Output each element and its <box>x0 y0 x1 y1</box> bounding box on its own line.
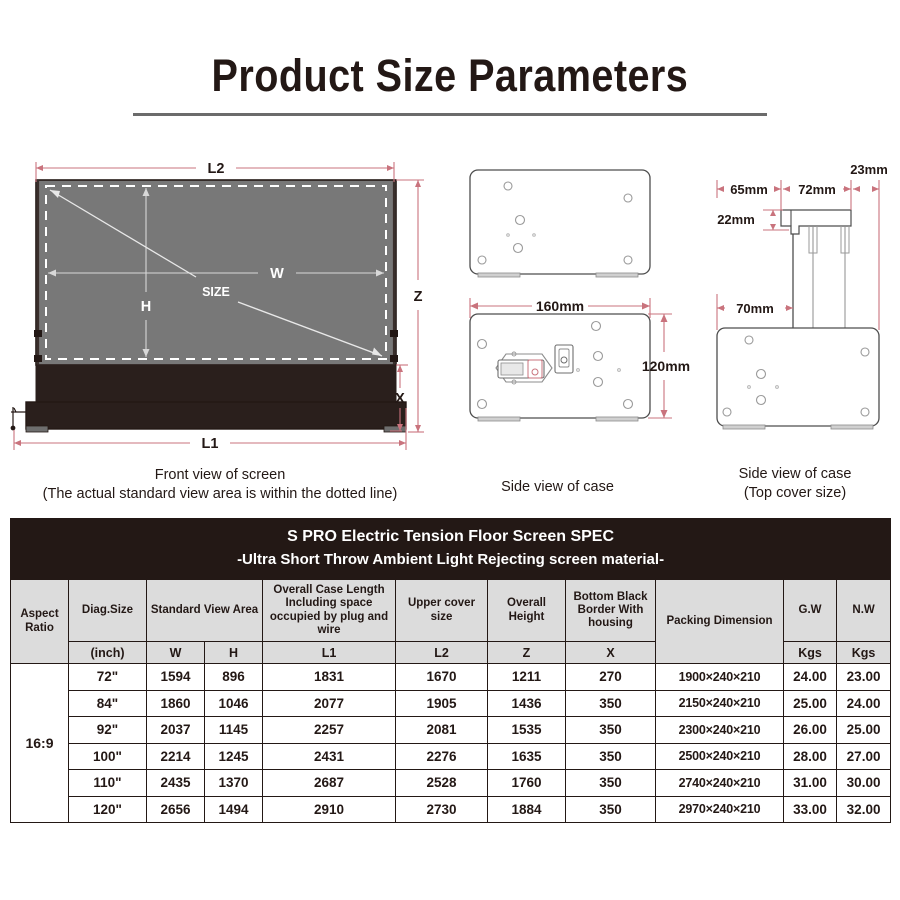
cell-l1: 2687 <box>263 770 396 797</box>
spec-table: S PRO Electric Tension Floor Screen SPEC… <box>10 518 891 823</box>
header-overall-height: Overall Height <box>488 580 566 642</box>
cell-l2: 2081 <box>396 717 488 744</box>
left-rail-clip-top <box>34 330 42 337</box>
cell-l2: 2528 <box>396 770 488 797</box>
cell-x: 350 <box>566 770 656 797</box>
label-160mm: 160mm <box>536 298 584 314</box>
right-rail-clip-top <box>390 330 398 337</box>
right-rail-clip-bottom <box>390 355 398 362</box>
label-l1: L1 <box>202 436 219 452</box>
cell-diag: 72" <box>69 664 147 691</box>
housing-foot-left <box>26 426 48 432</box>
cell-l1: 2910 <box>263 796 396 823</box>
side-view-case-diagram: 160mm 120mm <box>450 158 690 458</box>
table-row: 16:9 72" 1594 896 1831 1670 1211 270 190… <box>11 664 891 691</box>
cell-h: 1046 <box>205 690 263 717</box>
label-65mm: 65mm <box>730 182 768 197</box>
title-underline-rule <box>133 113 767 116</box>
table-title-cell: S PRO Electric Tension Floor Screen SPEC… <box>11 519 891 580</box>
page-title-block: Product Size Parameters <box>0 52 900 99</box>
front-view-caption: Front view of screen (The actual standar… <box>0 466 440 504</box>
cell-gw: 26.00 <box>784 717 837 744</box>
cell-diag: 92" <box>69 717 147 744</box>
label-22mm: 22mm <box>717 212 755 227</box>
subheader-nw-unit: Kgs <box>837 642 891 664</box>
cell-packing: 2740×240×210 <box>656 770 784 797</box>
dimension-23mm <box>853 180 879 330</box>
cell-z: 1635 <box>488 743 566 770</box>
cell-l2: 1670 <box>396 664 488 691</box>
cell-diag: 84" <box>69 690 147 717</box>
front-view-diagram: L2 L1 Z <box>0 150 440 480</box>
cell-diag: 110" <box>69 770 147 797</box>
label-z: Z <box>414 289 423 305</box>
cell-h: 1145 <box>205 717 263 744</box>
cell-aspect-ratio: 16:9 <box>11 664 69 823</box>
power-plug-wire-icon <box>11 407 26 430</box>
cell-packing: 2500×240×210 <box>656 743 784 770</box>
cell-w: 2214 <box>147 743 205 770</box>
header-packing-dimension: Packing Dimension <box>656 580 784 664</box>
cell-h: 896 <box>205 664 263 691</box>
cell-z: 1884 <box>488 796 566 823</box>
subheader-gw-unit: Kgs <box>784 642 837 664</box>
table-row: 84" 1860 1046 2077 1905 1436 350 2150×24… <box>11 690 891 717</box>
table-row: 120" 2656 1494 2910 2730 1884 350 2970×2… <box>11 796 891 823</box>
cell-packing: 2150×240×210 <box>656 690 784 717</box>
cell-gw: 25.00 <box>784 690 837 717</box>
subheader-l2: L2 <box>396 642 488 664</box>
cell-diag: 120" <box>69 796 147 823</box>
cell-x: 350 <box>566 717 656 744</box>
subheader-w: W <box>147 642 205 664</box>
cell-x: 270 <box>566 664 656 691</box>
table-header-row: Aspect Ratio Diag.Size Standard View Are… <box>11 580 891 642</box>
header-bottom-black-border: Bottom Black Border With housing <box>566 580 656 642</box>
cell-h: 1494 <box>205 796 263 823</box>
header-aspect-ratio: Aspect Ratio <box>11 580 69 664</box>
label-70mm: 70mm <box>736 301 774 316</box>
header-upper-cover-size: Upper cover size <box>396 580 488 642</box>
side-view-top-cover-caption-line1: Side view of case <box>690 465 900 484</box>
label-l2: L2 <box>208 161 225 177</box>
cell-w: 2435 <box>147 770 205 797</box>
cell-packing: 2300×240×210 <box>656 717 784 744</box>
label-72mm: 72mm <box>798 182 836 197</box>
cell-packing: 1900×240×210 <box>656 664 784 691</box>
front-view-caption-line2: (The actual standard view area is within… <box>0 485 440 504</box>
side-view-top-cover-caption-line2: (Top cover size) <box>690 484 900 503</box>
subheader-x: X <box>566 642 656 664</box>
cell-x: 350 <box>566 690 656 717</box>
cell-x: 350 <box>566 743 656 770</box>
header-standard-view-area: Standard View Area <box>147 580 263 642</box>
cell-z: 1436 <box>488 690 566 717</box>
cell-nw: 23.00 <box>837 664 891 691</box>
subheader-l1: L1 <box>263 642 396 664</box>
cell-nw: 32.00 <box>837 796 891 823</box>
cell-l1: 2257 <box>263 717 396 744</box>
cell-z: 1211 <box>488 664 566 691</box>
cell-gw: 24.00 <box>784 664 837 691</box>
case-body <box>717 328 879 429</box>
cell-gw: 31.00 <box>784 770 837 797</box>
label-x: X <box>395 391 405 407</box>
cell-packing: 2970×240×210 <box>656 796 784 823</box>
cell-w: 2656 <box>147 796 205 823</box>
cell-w: 1860 <box>147 690 205 717</box>
cell-h: 1370 <box>205 770 263 797</box>
cell-z: 1760 <box>488 770 566 797</box>
front-view-caption-line1: Front view of screen <box>0 466 440 485</box>
label-h: H <box>141 299 151 315</box>
label-size: SIZE <box>202 285 230 299</box>
header-overall-case-length: Overall Case Length Including space occu… <box>263 580 396 642</box>
cell-l2: 1905 <box>396 690 488 717</box>
diagram-area: L2 L1 Z <box>0 150 900 510</box>
cell-z: 1535 <box>488 717 566 744</box>
cell-nw: 24.00 <box>837 690 891 717</box>
power-inlet-plate <box>496 352 552 384</box>
top-cover-assembly <box>781 210 851 330</box>
cell-w: 1594 <box>147 664 205 691</box>
subheader-z: Z <box>488 642 566 664</box>
product-spec-sheet: Product Size Parameters <box>0 0 900 900</box>
cell-l2: 2730 <box>396 796 488 823</box>
header-diag-size: Diag.Size <box>69 580 147 642</box>
header-nw: N.W <box>837 580 891 642</box>
table-row: 92" 2037 1145 2257 2081 1535 350 2300×24… <box>11 717 891 744</box>
side-view-case-caption-line1: Side view of case <box>450 478 665 497</box>
cell-l1: 1831 <box>263 664 396 691</box>
left-rail-clip-bottom <box>34 355 42 362</box>
cell-x: 350 <box>566 796 656 823</box>
bottom-black-border <box>36 365 396 407</box>
cell-l1: 2431 <box>263 743 396 770</box>
table-row: 110" 2435 1370 2687 2528 1760 350 2740×2… <box>11 770 891 797</box>
cell-diag: 100" <box>69 743 147 770</box>
side-view-case-caption: Side view of case <box>450 478 665 497</box>
cell-w: 2037 <box>147 717 205 744</box>
table-title-row: S PRO Electric Tension Floor Screen SPEC… <box>11 519 891 580</box>
table-title-line2: -Ultra Short Throw Ambient Light Rejecti… <box>15 549 886 570</box>
side-view-top-cover-caption: Side view of case (Top cover size) <box>690 465 900 503</box>
case-lower <box>470 314 650 421</box>
cell-l1: 2077 <box>263 690 396 717</box>
case-upper <box>470 170 650 277</box>
header-gw: G.W <box>784 580 837 642</box>
label-23mm: 23mm <box>850 162 888 177</box>
cell-gw: 33.00 <box>784 796 837 823</box>
table-row: 100" 2214 1245 2431 2276 1635 350 2500×2… <box>11 743 891 770</box>
spec-table-container: S PRO Electric Tension Floor Screen SPEC… <box>10 518 890 823</box>
label-120mm: 120mm <box>642 358 690 374</box>
cell-nw: 25.00 <box>837 717 891 744</box>
cell-gw: 28.00 <box>784 743 837 770</box>
table-title-line1: S PRO Electric Tension Floor Screen SPEC <box>15 526 886 549</box>
subheader-diag-size: (inch) <box>69 642 147 664</box>
housing-case <box>26 402 406 429</box>
cell-nw: 27.00 <box>837 743 891 770</box>
subheader-h: H <box>205 642 263 664</box>
cell-h: 1245 <box>205 743 263 770</box>
label-w: W <box>270 266 284 282</box>
side-view-top-cover-diagram: 65mm 72mm 23mm <box>693 158 898 458</box>
page-title: Product Size Parameters <box>212 52 689 99</box>
cell-nw: 30.00 <box>837 770 891 797</box>
header-packing-dimension-label: Packing Dimension <box>656 615 783 628</box>
cell-l2: 2276 <box>396 743 488 770</box>
rocker-switch-icon <box>555 345 573 373</box>
